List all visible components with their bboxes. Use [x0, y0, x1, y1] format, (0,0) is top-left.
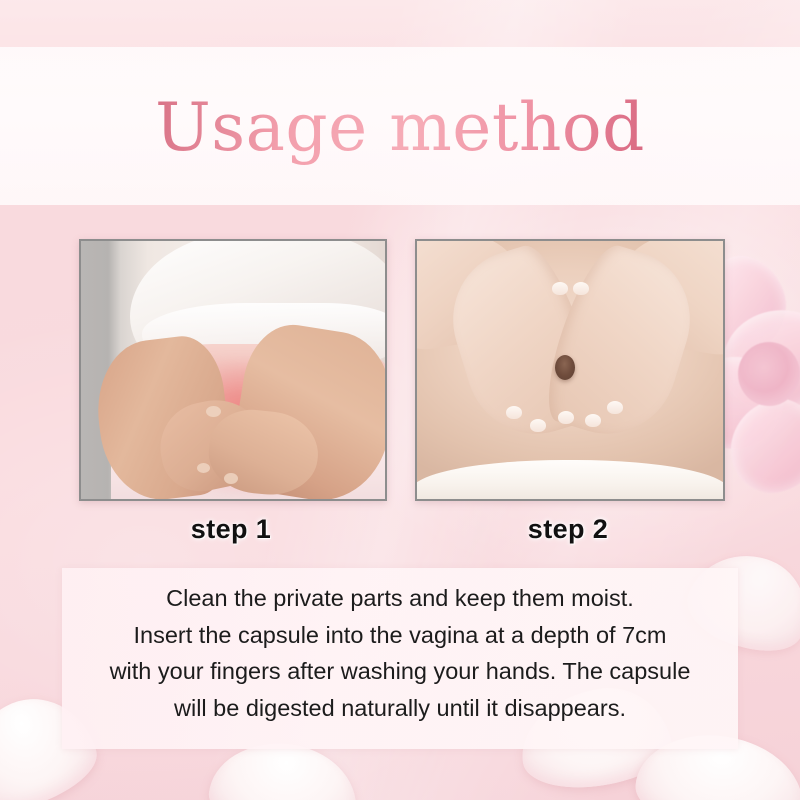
promo-banner: Usage method — [0, 0, 800, 800]
step-1-label: step 1 — [79, 512, 383, 546]
step-2-label: step 2 — [415, 512, 721, 546]
instruction-line: will be digested naturally until it disa… — [62, 690, 738, 727]
instruction-line: Clean the private parts and keep them mo… — [62, 580, 738, 617]
instruction-line: with your fingers after washing your han… — [62, 653, 738, 690]
page-title: Usage method — [0, 80, 800, 176]
instruction-line: Insert the capsule into the vagina at a … — [62, 617, 738, 654]
instructions-text: Clean the private parts and keep them mo… — [62, 580, 738, 726]
step-1-photo — [79, 239, 387, 501]
step-2-photo — [415, 239, 725, 501]
